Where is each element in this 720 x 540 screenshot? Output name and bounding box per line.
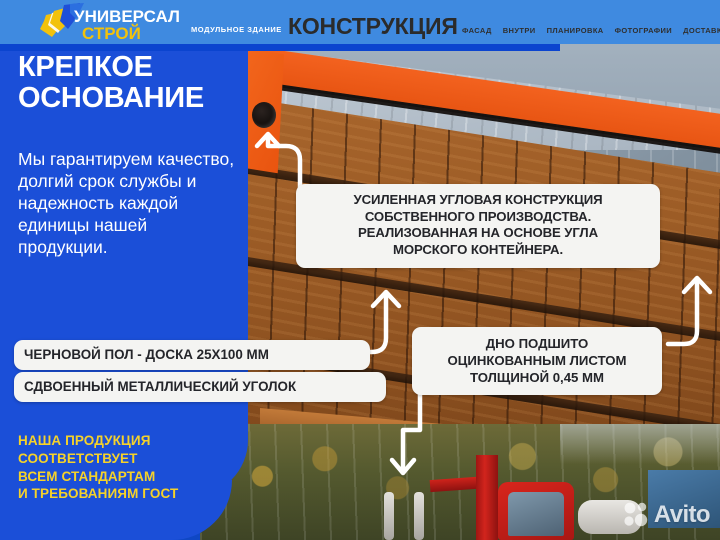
callout-subfloor-board[interactable]: ЧЕРНОВОЙ ПОЛ - ДОСКА 25Х100 ММ [14,340,370,370]
lead-paragraph: Мы гарантируем качество, долгий срок слу… [18,148,236,258]
logo-text-line2: СТРОЙ [82,24,141,43]
callout-double-metal-angle[interactable]: СДВОЕННЫЙ МЕТАЛЛИЧЕСКИЙ УГОЛОК [14,372,386,402]
main-navigation: ФАСАД ВНУТРИ ПЛАНИРОВКА ФОТОГРАФИИ ДОСТА… [462,26,720,35]
avito-logo-icon [623,502,649,528]
header-title: КОНСТРУКЦИЯ [288,13,458,40]
gost-line-3: ВСЕМ СТАНДАРТАМ [18,468,242,486]
nav-item-photos[interactable]: ФОТОГРАФИИ [615,26,672,35]
callout-corner-line-4: МОРСКОГО КОНТЕЙНЕРА. [306,242,650,259]
callout-bottom-line-3: ТОЛЩИНОЙ 0,45 ММ [422,369,652,386]
nav-item-delivery[interactable]: ДОСТАВКА [683,26,720,35]
callout-bottom-line-1: ДНО ПОДШИТО [422,335,652,352]
support-post [384,492,394,540]
callout-corner-line-3: РЕАЛИЗОВАННАЯ НА ОСНОВЕ УГЛА [306,225,650,242]
gost-statement: НАША ПРОДУКЦИЯ СООТВЕТСТВУЕТ ВСЕМ СТАНДА… [18,432,242,503]
gost-line-1: НАША ПРОДУКЦИЯ [18,432,242,450]
header-accent-strip [0,44,560,51]
poster-canvas: КРЕПКОЕ ОСНОВАНИЕ Мы гарантируем качеств… [0,0,720,540]
callout-galvanized-bottom[interactable]: ДНО ПОДШИТО ОЦИНКОВАННЫМ ЛИСТОМ ТОЛЩИНОЙ… [412,327,662,395]
crane-mast [476,455,498,540]
corner-castings-hole [252,102,276,128]
crane-cabin-window [508,492,564,536]
callout-corner-construction[interactable]: УСИЛЕННАЯ УГЛОВАЯ КОНСТРУКЦИЯ СОБСТВЕННО… [296,184,660,268]
callout-corner-line-2: СОБСТВЕННОГО ПРОИЗВОДСТВА. [306,209,650,226]
callout-angle-line-1: СДВОЕННЫЙ МЕТАЛЛИЧЕСКИЙ УГОЛОК [24,379,376,395]
gost-line-2: СООТВЕТСТВУЕТ [18,450,242,468]
logo-mark: УНИВЕРСАЛ СТРОЙ [30,3,180,43]
brand-logo[interactable]: УНИВЕРСАЛ СТРОЙ [30,3,180,43]
avito-wordmark: Avito [654,503,710,527]
nav-item-inside[interactable]: ВНУТРИ [503,26,536,35]
nav-item-layout[interactable]: ПЛАНИРОВКА [547,26,604,35]
callout-corner-line-1: УСИЛЕННАЯ УГЛОВАЯ КОНСТРУКЦИЯ [306,192,650,209]
sky-gap [560,424,720,464]
site-header: УНИВЕРСАЛ СТРОЙ МОДУЛЬНОЕ ЗДАНИЕ КОНСТРУ… [0,0,720,44]
support-post [414,492,424,540]
avito-watermark: Avito [623,502,710,528]
header-kicker: МОДУЛЬНОЕ ЗДАНИЕ [191,25,282,34]
headline-line-2: ОСНОВАНИЕ [18,83,248,114]
page-title: КРЕПКОЕ ОСНОВАНИЕ [18,52,248,114]
nav-item-facade[interactable]: ФАСАД [462,26,492,35]
callout-bottom-line-2: ОЦИНКОВАННЫМ ЛИСТОМ [422,352,652,369]
headline-line-1: КРЕПКОЕ [18,52,248,83]
gost-line-4: И ТРЕБОВАНИЯМ ГОСТ [18,485,242,503]
callout-floor-line-1: ЧЕРНОВОЙ ПОЛ - ДОСКА 25Х100 ММ [24,347,360,363]
